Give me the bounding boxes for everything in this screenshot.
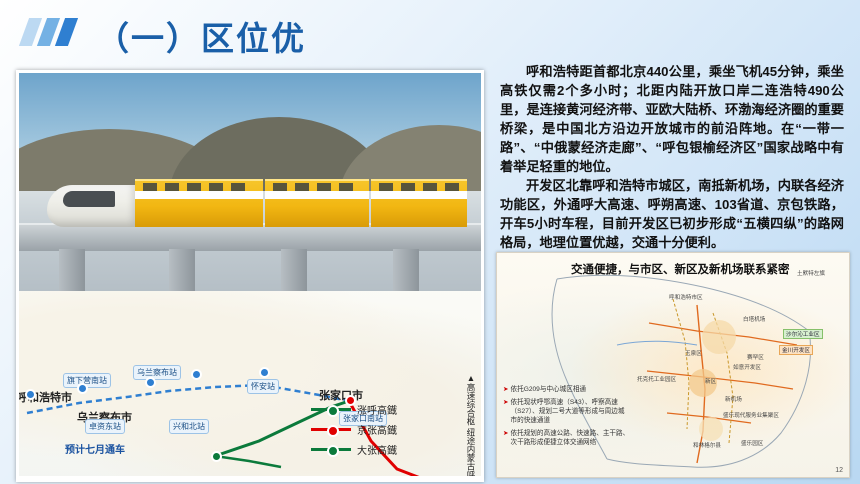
station-chip-zhuozidong: 卓资东站 [85,419,125,434]
station-dot [25,389,36,400]
region-map-bullets: ➤ 依托G209与中心城区相通 ➤ 依托现状呼鄂高速（S43）、呼察高速（S27… [503,385,631,451]
region-label-huhehaote-city: 呼和浩特市区 [669,293,703,301]
region-bullet-3: ➤ 依托规划的高速公路、快速路、主干路、次干路形成便捷立体交通网络 [503,429,631,447]
city-label-zhangjiakou: 张家口市 [319,387,363,403]
train-stripe-2 [265,191,369,199]
region-label-helingeer: 和林格尔县 [693,441,721,449]
region-bullet-1: ➤ 依托G209与中心城区相通 [503,385,631,394]
region-label-saihan: 赛罕区 [747,353,764,361]
rail-line-dashed-blue [27,385,349,413]
legend-row-3: 大张高鐡 [311,442,397,457]
region-chip-shaerqin: 沙尔沁工业区 [783,329,823,339]
legend-line-jingzhang [311,428,351,431]
train-nose [47,185,139,227]
train-window [273,183,287,191]
urban-area-3 [699,417,723,441]
train-stripe-3 [371,191,467,199]
region-label-tuoketuo: 托克托工业园区 [637,375,676,383]
station-dot [77,383,88,394]
region-bullet-1-text: 依托G209与中心城区相通 [511,385,586,394]
legend-label-jingzhang: 京张高鐡 [357,422,397,437]
train-window [317,183,331,191]
photo-pier-1 [59,249,85,291]
train-window [231,183,245,191]
slide: （一）区位优 呼和浩特距首都北京440公里，乘坐飞机45分钟，乘坐高铁仅需2个多… [0,0,860,484]
page-number: 12 [835,467,843,474]
high-speed-train [47,169,467,227]
station-dot [211,451,222,462]
left-illustration-panel: 呼和浩特市 乌兰察布市 张家口市 大同市 北京市 旗下营南站 乌兰察布站 卓资东… [16,70,484,482]
region-label-ruyi: 如意开发区 [733,363,761,371]
urban-area-1 [702,320,736,354]
road-secondary [673,299,689,429]
legend-label-zhanghu: 涨呼高鐡 [357,402,397,417]
train-window [209,183,223,191]
legend-line-zhanghu [311,408,351,411]
train-window [295,183,309,191]
station-dot [191,369,202,380]
region-label-new-district: 新区 [705,377,716,385]
photo-pier-2 [169,249,195,291]
map-annotation-vertical: ▲高速综合枢 纽途内蒙古呼 浩特高铁十分 大公报点 部署 [399,373,477,459]
region-map-title: 交通便捷，与市区、新区及新机场联系紧密 [571,261,790,277]
region-label-tumote: 土默特左旗 [797,269,825,277]
photo-pier-4 [393,249,419,291]
bullet-marker-icon: ➤ [503,429,509,447]
map-legend: 涨呼高鐡 京张高鐡 大张高鐡 [311,402,397,462]
region-bullet-2: ➤ 依托现状呼鄂高速（S43）、呼察高速（S27）、规划二号大道等形成与周边城市… [503,398,631,425]
region-chip-jinchuan: 金川开发区 [779,345,813,355]
body-paragraph-1: 呼和浩特距首都北京440公里，乘坐飞机45分钟，乘坐高铁仅需2个多小时；北距内陆… [500,62,844,176]
station-chip-huaian: 怀安站 [247,379,279,394]
train-window [187,183,201,191]
map-annotation-opening: 预计七月通车 [65,441,125,456]
train-stripe-1 [135,191,263,199]
title-decoration [22,18,88,48]
legend-row-2: 京张高鐡 [311,422,397,437]
page-title: （一）区位优 [96,12,306,60]
train-window [143,183,157,191]
legend-line-dazhang [311,448,351,451]
legend-row-1: 涨呼高鐡 [311,402,397,417]
photo-pier-3 [281,249,307,291]
region-label-yuquan: 玉泉区 [685,349,702,357]
region-traffic-map: 交通便捷，与市区、新区及新机场联系紧密 ➤ 依托G209与中心城区相通 ➤ 依托… [496,252,850,478]
train-window [445,183,459,191]
train-window [165,183,179,191]
station-chip-wulanchabu: 乌兰察布站 [133,365,181,380]
station-chip-xinghebei: 兴和北站 [169,419,209,434]
region-label-shengle-park: 盛乐园区 [741,439,763,447]
body-paragraph-2: 开发区北靠呼和浩特市城区，南抵新机场，内联各经济功能区，外通呼大高速、呼朔高速、… [500,176,844,252]
region-boundary-north [557,275,809,331]
bullet-marker-icon: ➤ [503,385,509,394]
region-label-baita-airport: 白塔机场 [743,315,765,323]
train-window [379,183,393,191]
body-text: 呼和浩特距首都北京440公里，乘坐飞机45分钟，乘坐高铁仅需2个多小时；北距内陆… [500,62,844,252]
train-photo [19,73,481,291]
train-window [423,183,437,191]
region-bullet-2-text: 依托现状呼鄂高速（S43）、呼察高速（S27）、规划二号大道等形成与周边城市的快… [511,398,631,425]
region-label-new-airport: 新机场 [725,395,742,403]
rail-route-map: 呼和浩特市 乌兰察布市 张家口市 大同市 北京市 旗下营南站 乌兰察布站 卓资东… [19,291,481,476]
photo-viaduct-deck [19,223,481,251]
train-window [339,183,353,191]
rail-line-green-south [215,456,281,467]
station-dot [145,377,156,388]
bullet-marker-icon: ➤ [503,398,509,425]
region-label-shengle-service: 盛乐现代服务业集聚区 [723,411,779,419]
region-bullet-3-text: 依托规划的高速公路、快速路、主干路、次干路形成便捷立体交通网络 [511,429,631,447]
station-dot [259,367,270,378]
train-window [401,183,415,191]
legend-label-dazhang: 大张高鐡 [357,442,397,457]
